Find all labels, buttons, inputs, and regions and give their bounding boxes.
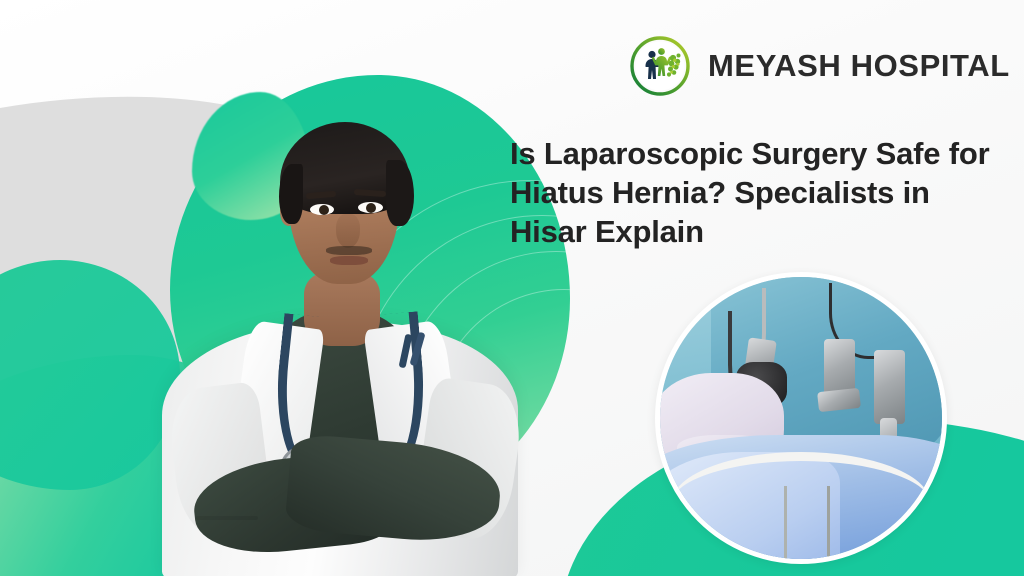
brand-name: MEYASH HOSPITAL [708,48,1010,84]
trocar-port [874,350,905,423]
hair-side-right [386,160,414,226]
moustache [326,246,372,255]
doctor-portrait [140,86,540,576]
page-title: Is Laparoscopic Surgery Safe for Hiatus … [510,134,1010,251]
eye-left [310,204,334,215]
pupil [319,205,329,215]
hospital-people-leaf-logo-icon [628,34,692,98]
mouth [330,256,368,265]
coat-pocket [196,516,258,520]
suction-tube [671,452,930,557]
nose [336,214,360,248]
brand-logo-lockup[interactable]: MEYASH HOSPITAL [628,34,1010,98]
pupil [366,203,376,213]
promo-banner: MEYASH HOSPITAL Is Laparoscopic Surgery … [0,0,1024,576]
laparoscopic-surgery-photo [655,272,947,564]
hair-side-left [279,164,303,224]
eye-right [358,202,383,213]
